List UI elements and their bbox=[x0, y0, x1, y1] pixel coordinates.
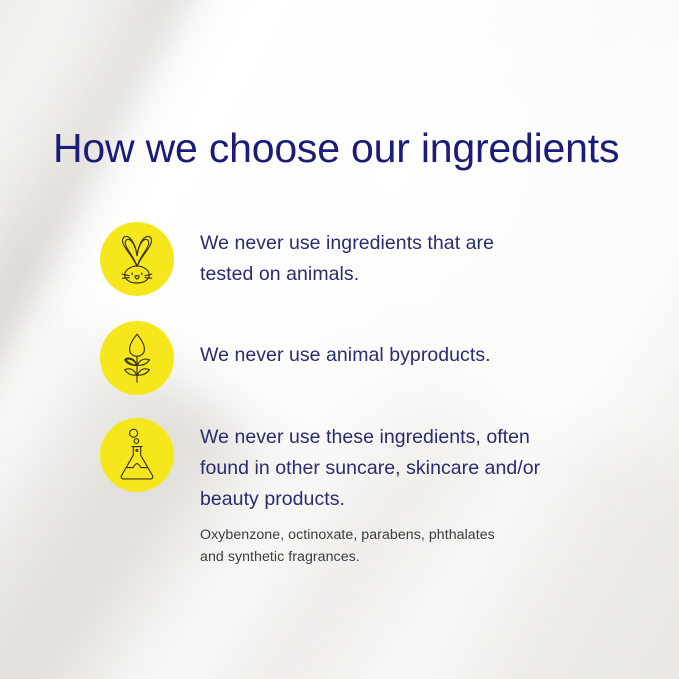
bunny-heart-ears-icon bbox=[114, 233, 160, 285]
promise-badge-1 bbox=[100, 222, 174, 296]
promise-line: beauty products. bbox=[200, 484, 620, 515]
promise-text-2: We never use animal byproducts. bbox=[174, 321, 620, 371]
ingredients-infographic: How we choose our ingredients bbox=[0, 0, 679, 679]
promise-line: found in other suncare, skincare and/or bbox=[200, 453, 620, 484]
promise-line: We never use these ingredients, often bbox=[200, 422, 620, 453]
list-item: We never use animal byproducts. bbox=[100, 321, 620, 395]
promise-badge-2 bbox=[100, 321, 174, 395]
ingredient-note: Oxybenzone, octinoxate, parabens, phthal… bbox=[200, 524, 620, 568]
promise-list: We never use ingredients that are tested… bbox=[100, 222, 620, 568]
list-item: We never use ingredients that are tested… bbox=[100, 222, 620, 296]
promise-line: tested on animals. bbox=[200, 259, 620, 290]
promise-line: We never use animal byproducts. bbox=[200, 340, 620, 371]
ingredient-note-line: Oxybenzone, octinoxate, parabens, phthal… bbox=[200, 524, 620, 546]
chemistry-flask-icon bbox=[116, 428, 158, 482]
page-title: How we choose our ingredients bbox=[53, 125, 619, 172]
promise-text-3: We never use these ingredients, often fo… bbox=[174, 418, 620, 568]
ingredient-note-line: and synthetic fragrances. bbox=[200, 546, 620, 568]
list-item: We never use these ingredients, often fo… bbox=[100, 418, 620, 568]
promise-text-1: We never use ingredients that are tested… bbox=[174, 222, 620, 290]
promise-badge-3 bbox=[100, 418, 174, 492]
plant-leaf-sprig-icon bbox=[116, 332, 158, 384]
promise-line: We never use ingredients that are bbox=[200, 228, 620, 259]
